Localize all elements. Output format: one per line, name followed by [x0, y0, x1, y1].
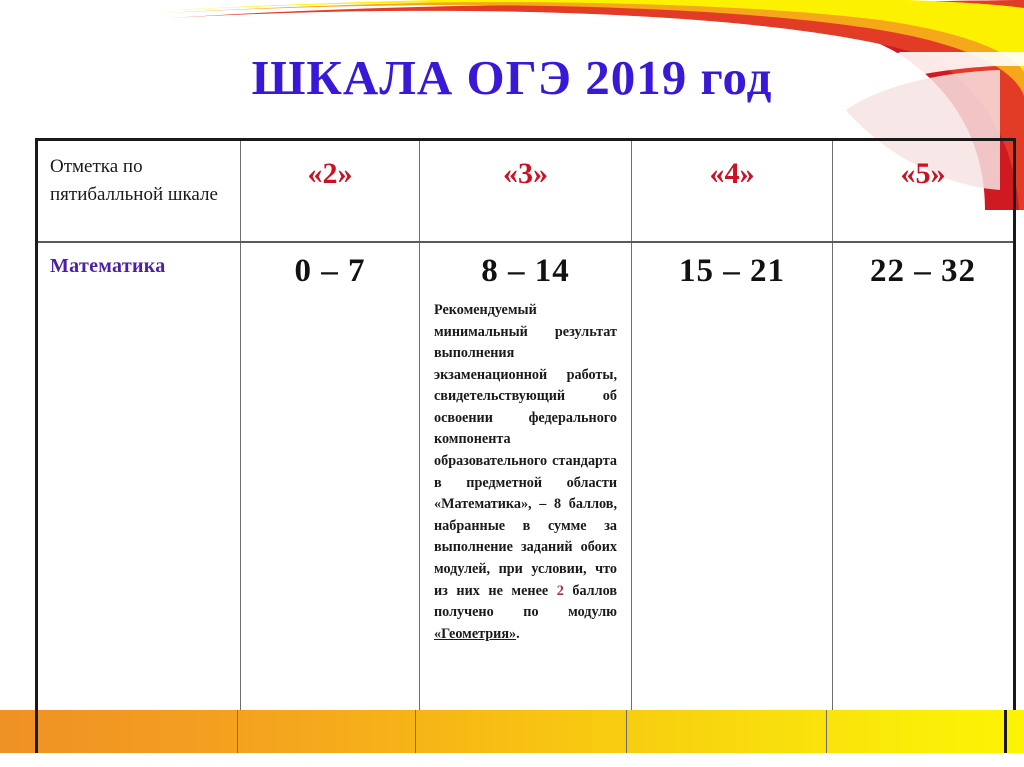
header-cell-grade-5: «5» [833, 140, 1015, 243]
header-grade-2-text: «2» [241, 141, 419, 191]
note-part-3: . [516, 626, 520, 642]
cell-range-grade-4: 15 – 21 [632, 242, 833, 715]
range-value-grade-4: 15 – 21 [632, 243, 832, 290]
band-rule-3 [626, 710, 627, 753]
band-rule-2 [415, 710, 416, 753]
band-rule-right [1004, 710, 1007, 753]
header-cell-grade-2: «2» [241, 140, 420, 243]
band-rule-left [35, 710, 38, 753]
header-grade-3-text: «3» [420, 141, 631, 191]
note-part-1: Рекомендуемый минимальный результат выпо… [434, 302, 617, 599]
cell-subject-name: Математика [37, 242, 241, 715]
bottom-gradient-band [0, 710, 1024, 753]
table-header-row: Отметка по пятибалльной шкале «2» «3» «4… [37, 140, 1015, 243]
note-highlight-number: 2 [557, 583, 564, 599]
cell-range-grade-5: 22 – 32 [833, 242, 1015, 715]
cell-range-grade-3: 8 – 14 Рекомендуемый минимальный результ… [420, 242, 632, 715]
ogeh-grade-scale-table: Отметка по пятибалльной шкале «2» «3» «4… [35, 138, 1016, 716]
range-value-grade-5: 22 – 32 [833, 243, 1013, 290]
header-grade-5-text: «5» [833, 141, 1013, 191]
range-value-grade-2: 0 – 7 [241, 243, 419, 290]
range-value-grade-3: 8 – 14 [420, 243, 631, 290]
header-scale-label-text: Отметка по пятибалльной шкале [38, 141, 240, 208]
table-row-mathematics: Математика 0 – 7 8 – 14 Рекомендуемый ми… [37, 242, 1015, 715]
header-cell-scale-label: Отметка по пятибалльной шкале [37, 140, 241, 243]
header-cell-grade-4: «4» [632, 140, 833, 243]
subject-label-mathematics: Математика [38, 243, 240, 278]
header-grade-4-text: «4» [632, 141, 832, 191]
note-module-geometry: «Геометрия» [434, 626, 516, 642]
minimum-result-note: Рекомендуемый минимальный результат выпо… [420, 290, 631, 645]
header-cell-grade-3: «3» [420, 140, 632, 243]
page-title: ШКАЛА ОГЭ 2019 год [0, 52, 1024, 103]
band-rule-1 [237, 710, 238, 753]
bottom-band-table-rules [0, 710, 1024, 753]
band-rule-4 [826, 710, 827, 753]
cell-range-grade-2: 0 – 7 [241, 242, 420, 715]
